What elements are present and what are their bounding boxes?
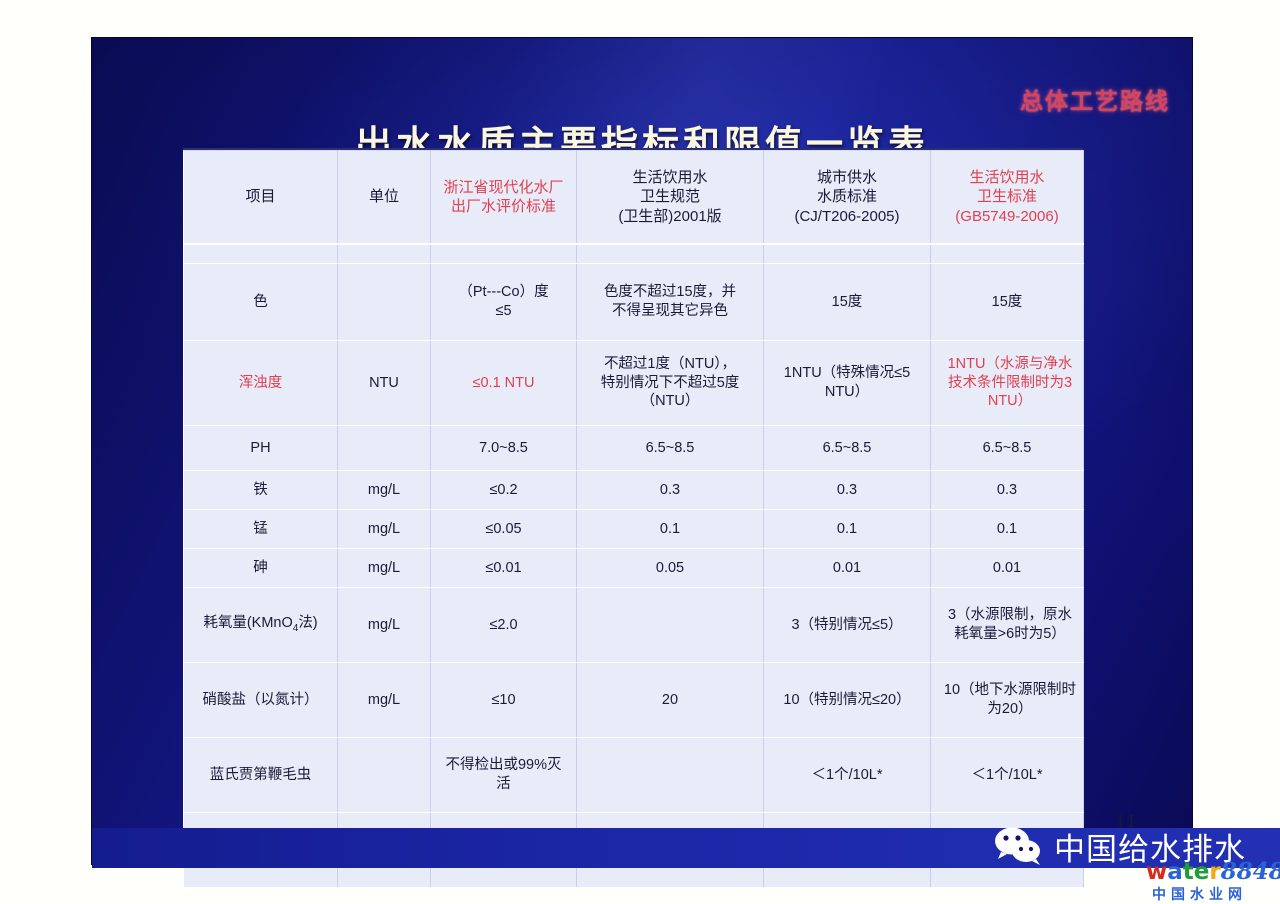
watermark-site-cn: 中国水业网 <box>1152 884 1247 904</box>
header-line: 城市供水 <box>767 168 927 187</box>
water-number: 8848 <box>1221 858 1280 885</box>
cell-line: 耗氧量>6时为5） <box>917 625 1103 644</box>
cell-line: ≤5 <box>434 302 573 321</box>
header-line: 水质标准 <box>767 187 927 206</box>
cell-cjt206: 0.3 <box>764 471 931 510</box>
header-line: 浙江省现代化水厂 <box>434 178 573 197</box>
table-row: 色 （Pt---Co）度 ≤5 色度不超过15度，并 不得呈现其它异色 15度 <box>184 264 1084 341</box>
row-unit <box>338 738 431 813</box>
cell-gb5749: 6.5~8.5 <box>931 426 1084 471</box>
header-line: 出厂水评价标准 <box>434 197 573 216</box>
cell-line: 特别情况下不超过5度 <box>580 374 760 393</box>
cell-gb5749: 0.01 <box>931 549 1084 588</box>
table-row: 蓝氏贾第鞭毛虫 不得检出或99%灭 活 ＜1个/10L* ＜1个/10L* <box>184 738 1084 813</box>
table-row: 锰 mg/L ≤0.05 0.1 0.1 0.1 <box>184 510 1084 549</box>
cell-gb5749: 0.1 <box>931 510 1084 549</box>
cell-gb5749: ＜1个/10L* <box>931 738 1084 813</box>
row-item-name: 耗氧量(KMnO4法) <box>184 588 338 663</box>
header-line: 单位 <box>369 188 399 205</box>
water-quality-table-wrapper: 项目 单位 浙江省现代化水厂 出厂水评价标准 生活饮用水 卫生规范 (卫生部 <box>183 148 1083 888</box>
cell-norm2001: 0.3 <box>577 471 764 510</box>
water-quality-table: 项目 单位 浙江省现代化水厂 出厂水评价标准 生活饮用水 卫生规范 (卫生部 <box>183 150 1084 888</box>
cell-line: 10（地下水源限制时 <box>917 681 1103 700</box>
table-row: 铁 mg/L ≤0.2 0.3 0.3 0.3 <box>184 471 1084 510</box>
row-unit <box>338 426 431 471</box>
row-item-name: PH <box>184 426 338 471</box>
cell-norm2001: 不超过1度（NTU）， 特别情况下不超过5度 （NTU） <box>577 341 764 426</box>
section-tag: 总体工艺路线 <box>1020 82 1170 116</box>
cell-norm2001 <box>577 588 764 663</box>
cell-gb5749: 3（水源限制，原水 耗氧量>6时为5） <box>931 588 1084 663</box>
column-header-item: 项目 <box>184 151 338 245</box>
cell-line: 1NTU（水源与净水 <box>917 355 1103 374</box>
cell-zhejiang: 不得检出或99%灭 活 <box>431 738 577 813</box>
cell-line: 1NTU（特殊情况≤5 <box>767 364 927 383</box>
water-letter-a: a <box>1167 859 1183 885</box>
cell-line: 不得检出或99%灭 <box>434 756 573 775</box>
column-header-gb5749-2006: 生活饮用水 卫生标准 (GB5749-2006) <box>931 151 1084 245</box>
cell-zhejiang: ≤0.1 NTU <box>431 341 577 426</box>
table-row: 砷 mg/L ≤0.01 0.05 0.01 0.01 <box>184 549 1084 588</box>
table-row: PH 7.0~8.5 6.5~8.5 6.5~8.5 6.5~8.5 <box>184 426 1084 471</box>
column-header-zhejiang-standard: 浙江省现代化水厂 出厂水评价标准 <box>431 151 577 245</box>
cell-gb5749: 10（地下水源限制时 为20） <box>931 663 1084 738</box>
cell-line: NTU） <box>917 392 1103 411</box>
slide-canvas: 总体工艺路线 出水水质主要指标和限值一览表 项目 单位 <box>0 0 1280 904</box>
table-row: 硝酸盐（以氮计） mg/L ≤10 20 10（特别情况≤20） 10（地下水源… <box>184 663 1084 738</box>
row-item-name: 色 <box>184 264 338 341</box>
row-unit: mg/L <box>338 549 431 588</box>
cell-cjt206: 0.01 <box>764 549 931 588</box>
cell-norm2001: 色度不超过15度，并 不得呈现其它异色 <box>577 264 764 341</box>
cell-zhejiang: 7.0~8.5 <box>431 426 577 471</box>
cell-line: 3（水源限制，原水 <box>917 606 1103 625</box>
spacer-cell <box>338 244 431 264</box>
header-line: 卫生规范 <box>580 187 760 206</box>
cell-cjt206: 15度 <box>764 264 931 341</box>
water-letter-r: r <box>1209 859 1220 885</box>
column-header-city-supply-cjt206: 城市供水 水质标准 (CJ/T206-2005) <box>764 151 931 245</box>
row-item-name: 蓝氏贾第鞭毛虫 <box>184 738 338 813</box>
cell-zhejiang: ≤0.05 <box>431 510 577 549</box>
cell-norm2001: 0.1 <box>577 510 764 549</box>
cell-cjt206: 1NTU（特殊情况≤5 NTU） <box>764 341 931 426</box>
water-letter-te: te <box>1183 859 1210 885</box>
row-unit <box>338 264 431 341</box>
cell-line: （NTU） <box>580 392 760 411</box>
table-spacer-row <box>184 244 1084 264</box>
spacer-cell <box>431 244 577 264</box>
header-line: 卫生标准 <box>934 187 1080 206</box>
spacer-cell <box>931 244 1084 264</box>
watermark-water8848: water8848.com <box>1146 860 1280 884</box>
row-unit: mg/L <box>338 663 431 738</box>
row-item-name: 铁 <box>184 471 338 510</box>
cell-line: 活 <box>434 775 573 794</box>
cell-line: 不得呈现其它异色 <box>580 302 760 321</box>
spacer-cell <box>764 244 931 264</box>
table-header-row: 项目 单位 浙江省现代化水厂 出厂水评价标准 生活饮用水 卫生规范 (卫生部 <box>184 151 1084 245</box>
column-header-unit: 单位 <box>338 151 431 245</box>
row-item-name: 锰 <box>184 510 338 549</box>
cell-zhejiang: ≤2.0 <box>431 588 577 663</box>
cell-line: NTU） <box>767 383 927 402</box>
cell-gb5749: 1NTU（水源与净水 技术条件限制时为3 NTU） <box>931 341 1084 426</box>
header-line: (GB5749-2006) <box>934 207 1080 226</box>
cell-cjt206: 0.1 <box>764 510 931 549</box>
cell-line: ≤0.1 NTU <box>434 374 573 393</box>
cell-line: （Pt---Co）度 <box>434 283 573 302</box>
spacer-cell <box>577 244 764 264</box>
cell-cjt206: ＜1个/10L* <box>764 738 931 813</box>
header-line: 生活饮用水 <box>934 168 1080 187</box>
row-unit: mg/L <box>338 510 431 549</box>
subscript: 4 <box>293 623 299 634</box>
cell-zhejiang: ≤10 <box>431 663 577 738</box>
spacer-cell <box>184 244 338 264</box>
cell-line: 技术条件限制时为3 <box>917 374 1103 393</box>
row-item-name: 浑浊度 <box>184 341 338 426</box>
cell-zhejiang: ≤0.2 <box>431 471 577 510</box>
cell-cjt206: 10（特别情况≤20） <box>764 663 931 738</box>
table-row: 浑浊度 NTU ≤0.1 NTU 不超过1度（NTU）， 特别情况下不超过5度 … <box>184 341 1084 426</box>
presentation-slide: 总体工艺路线 出水水质主要指标和限值一览表 项目 单位 <box>92 38 1192 864</box>
cell-gb5749: 0.3 <box>931 471 1084 510</box>
cell-line: 15度 <box>934 293 1080 312</box>
cell-gb5749: 15度 <box>931 264 1084 341</box>
cell-norm2001: 0.05 <box>577 549 764 588</box>
cell-norm2001: 20 <box>577 663 764 738</box>
row-unit: mg/L <box>338 588 431 663</box>
header-line: 项目 <box>245 188 275 205</box>
row-item-name: 硝酸盐（以氮计） <box>184 663 338 738</box>
cell-line: 为20） <box>917 700 1103 719</box>
column-header-drinking-water-norm-2001: 生活饮用水 卫生规范 (卫生部)2001版 <box>577 151 764 245</box>
cell-zhejiang: （Pt---Co）度 ≤5 <box>431 264 577 341</box>
water-letter-w: w <box>1146 859 1167 885</box>
header-line: 生活饮用水 <box>580 168 760 187</box>
row-unit: NTU <box>338 341 431 426</box>
cell-line: 色度不超过15度，并 <box>580 283 760 302</box>
cell-line: 15度 <box>767 293 927 312</box>
cell-cjt206: 3（特别情况≤5） <box>764 588 931 663</box>
cell-line: 不超过1度（NTU）， <box>580 355 760 374</box>
cell-norm2001 <box>577 738 764 813</box>
header-line: (CJ/T206-2005) <box>767 207 927 226</box>
row-unit: mg/L <box>338 471 431 510</box>
cell-zhejiang: ≤0.01 <box>431 549 577 588</box>
header-line: (卫生部)2001版 <box>580 207 760 226</box>
table-row: 耗氧量(KMnO4法) mg/L ≤2.0 3（特别情况≤5） 3（水源限制，原… <box>184 588 1084 663</box>
cell-norm2001: 6.5~8.5 <box>577 426 764 471</box>
row-item-name: 砷 <box>184 549 338 588</box>
cell-cjt206: 6.5~8.5 <box>764 426 931 471</box>
wechat-icon <box>988 826 1050 866</box>
